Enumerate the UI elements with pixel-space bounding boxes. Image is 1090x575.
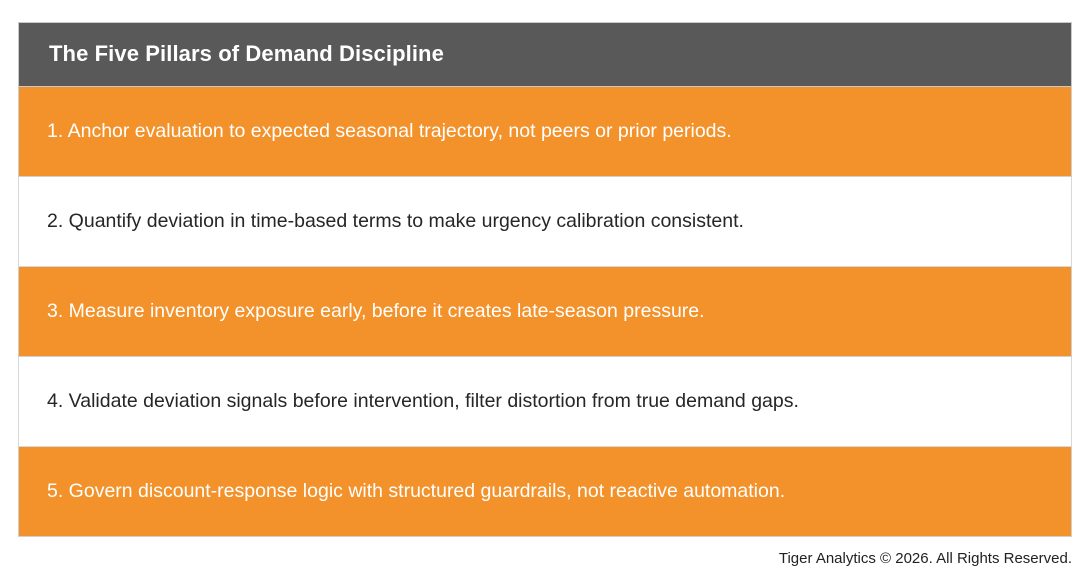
table-row: 3. Measure inventory exposure early, bef… <box>19 267 1072 357</box>
five-pillars-table: The Five Pillars of Demand Discipline 1.… <box>18 22 1072 537</box>
table-row: 5. Govern discount-response logic with s… <box>19 447 1072 537</box>
table-row: 1. Anchor evaluation to expected seasona… <box>19 87 1072 177</box>
pillar-text-2: 2. Quantify deviation in time-based term… <box>19 208 1071 234</box>
table-body: The Five Pillars of Demand Discipline 1.… <box>19 23 1072 537</box>
pillar-text-3: 3. Measure inventory exposure early, bef… <box>19 298 1071 324</box>
pillar-text-1: 1. Anchor evaluation to expected seasona… <box>19 118 1071 144</box>
table-header-cell: The Five Pillars of Demand Discipline <box>19 23 1072 87</box>
pillar-text-5: 5. Govern discount-response logic with s… <box>19 478 1071 504</box>
pillar-cell-1: 1. Anchor evaluation to expected seasona… <box>19 87 1072 177</box>
table-header-row: The Five Pillars of Demand Discipline <box>19 23 1072 87</box>
pillar-text-4: 4. Validate deviation signals before int… <box>19 388 1071 414</box>
table-row: 2. Quantify deviation in time-based term… <box>19 177 1072 267</box>
pillars-infographic: The Five Pillars of Demand Discipline 1.… <box>0 0 1090 575</box>
footer-copyright: Tiger Analytics © 2026. All Rights Reser… <box>18 549 1072 569</box>
pillar-cell-5: 5. Govern discount-response logic with s… <box>19 447 1072 537</box>
table-row: 4. Validate deviation signals before int… <box>19 357 1072 447</box>
page-title: The Five Pillars of Demand Discipline <box>19 41 1071 67</box>
pillar-cell-2: 2. Quantify deviation in time-based term… <box>19 177 1072 267</box>
pillar-cell-4: 4. Validate deviation signals before int… <box>19 357 1072 447</box>
pillar-cell-3: 3. Measure inventory exposure early, bef… <box>19 267 1072 357</box>
